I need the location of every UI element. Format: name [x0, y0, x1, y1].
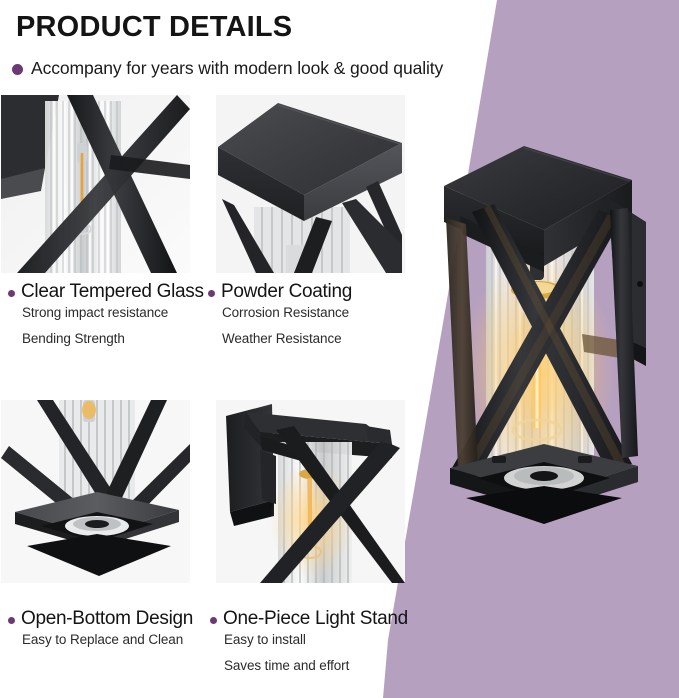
feature-image-powder-coating — [216, 95, 405, 273]
feature-subtext: Weather Resistance — [222, 332, 408, 347]
page-subtitle: Accompany for years with modern look & g… — [31, 58, 443, 79]
bullet-dot-icon — [8, 617, 15, 624]
product-details-infographic: PRODUCT DETAILS Accompany for years with… — [0, 0, 679, 698]
hero-product-image — [432, 138, 660, 528]
bullet-dot-icon — [8, 290, 15, 297]
feature-subtext: Saves time and effort — [224, 659, 420, 674]
feature-title: Open-Bottom Design — [21, 608, 193, 629]
feature-subtext: Easy to install — [224, 633, 420, 648]
feature-subtext: Corrosion Resistance — [222, 306, 408, 321]
feature-caption-one-piece-light-stand: One-Piece Light Stand Easy to install Sa… — [210, 608, 420, 674]
feature-image-open-bottom-design — [1, 400, 190, 583]
feature-caption-powder-coating: Powder Coating Corrosion Resistance Weat… — [208, 281, 408, 347]
subtitle-row: Accompany for years with modern look & g… — [12, 58, 443, 79]
page-title: PRODUCT DETAILS — [16, 11, 292, 44]
feature-subtext: Easy to Replace and Clean — [22, 633, 213, 648]
bullet-dot-icon — [208, 290, 215, 297]
feature-caption-open-bottom-design: Open-Bottom Design Easy to Replace and C… — [8, 608, 213, 648]
feature-subtext: Strong impact resistance — [22, 306, 208, 321]
feature-subtext: Bending Strength — [22, 332, 208, 347]
feature-title: One-Piece Light Stand — [223, 608, 408, 629]
feature-image-one-piece-light-stand — [216, 400, 405, 583]
bullet-dot-icon — [12, 64, 23, 75]
feature-title: Clear Tempered Glass — [21, 281, 204, 302]
feature-caption-clear-tempered-glass: Clear Tempered Glass Strong impact resis… — [8, 281, 208, 347]
feature-title: Powder Coating — [221, 281, 352, 302]
bullet-dot-icon — [210, 617, 217, 624]
feature-image-clear-tempered-glass — [1, 95, 190, 273]
